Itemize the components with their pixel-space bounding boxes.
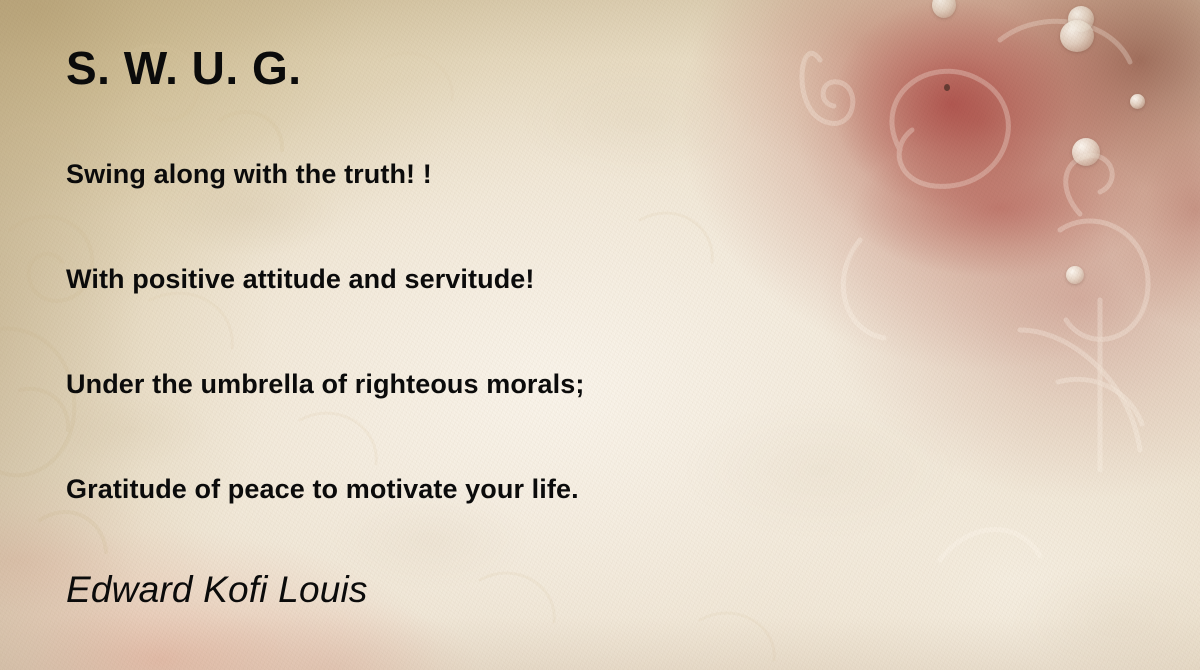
poem-line-1: Swing along with the truth! ! [66,160,432,190]
poem-title: S. W. U. G. [66,44,302,92]
poem-line-3: Under the umbrella of righteous morals; [66,370,584,400]
poem-line-2: With positive attitude and servitude! [66,265,535,295]
poem-line-4: Gratitude of peace to motivate your life… [66,475,579,505]
poem-image-card: S. W. U. G. Swing along with the truth! … [0,0,1200,670]
poem-text-container: S. W. U. G. Swing along with the truth! … [0,0,1200,670]
poem-author-name: Edward Kofi Louis [66,570,368,611]
